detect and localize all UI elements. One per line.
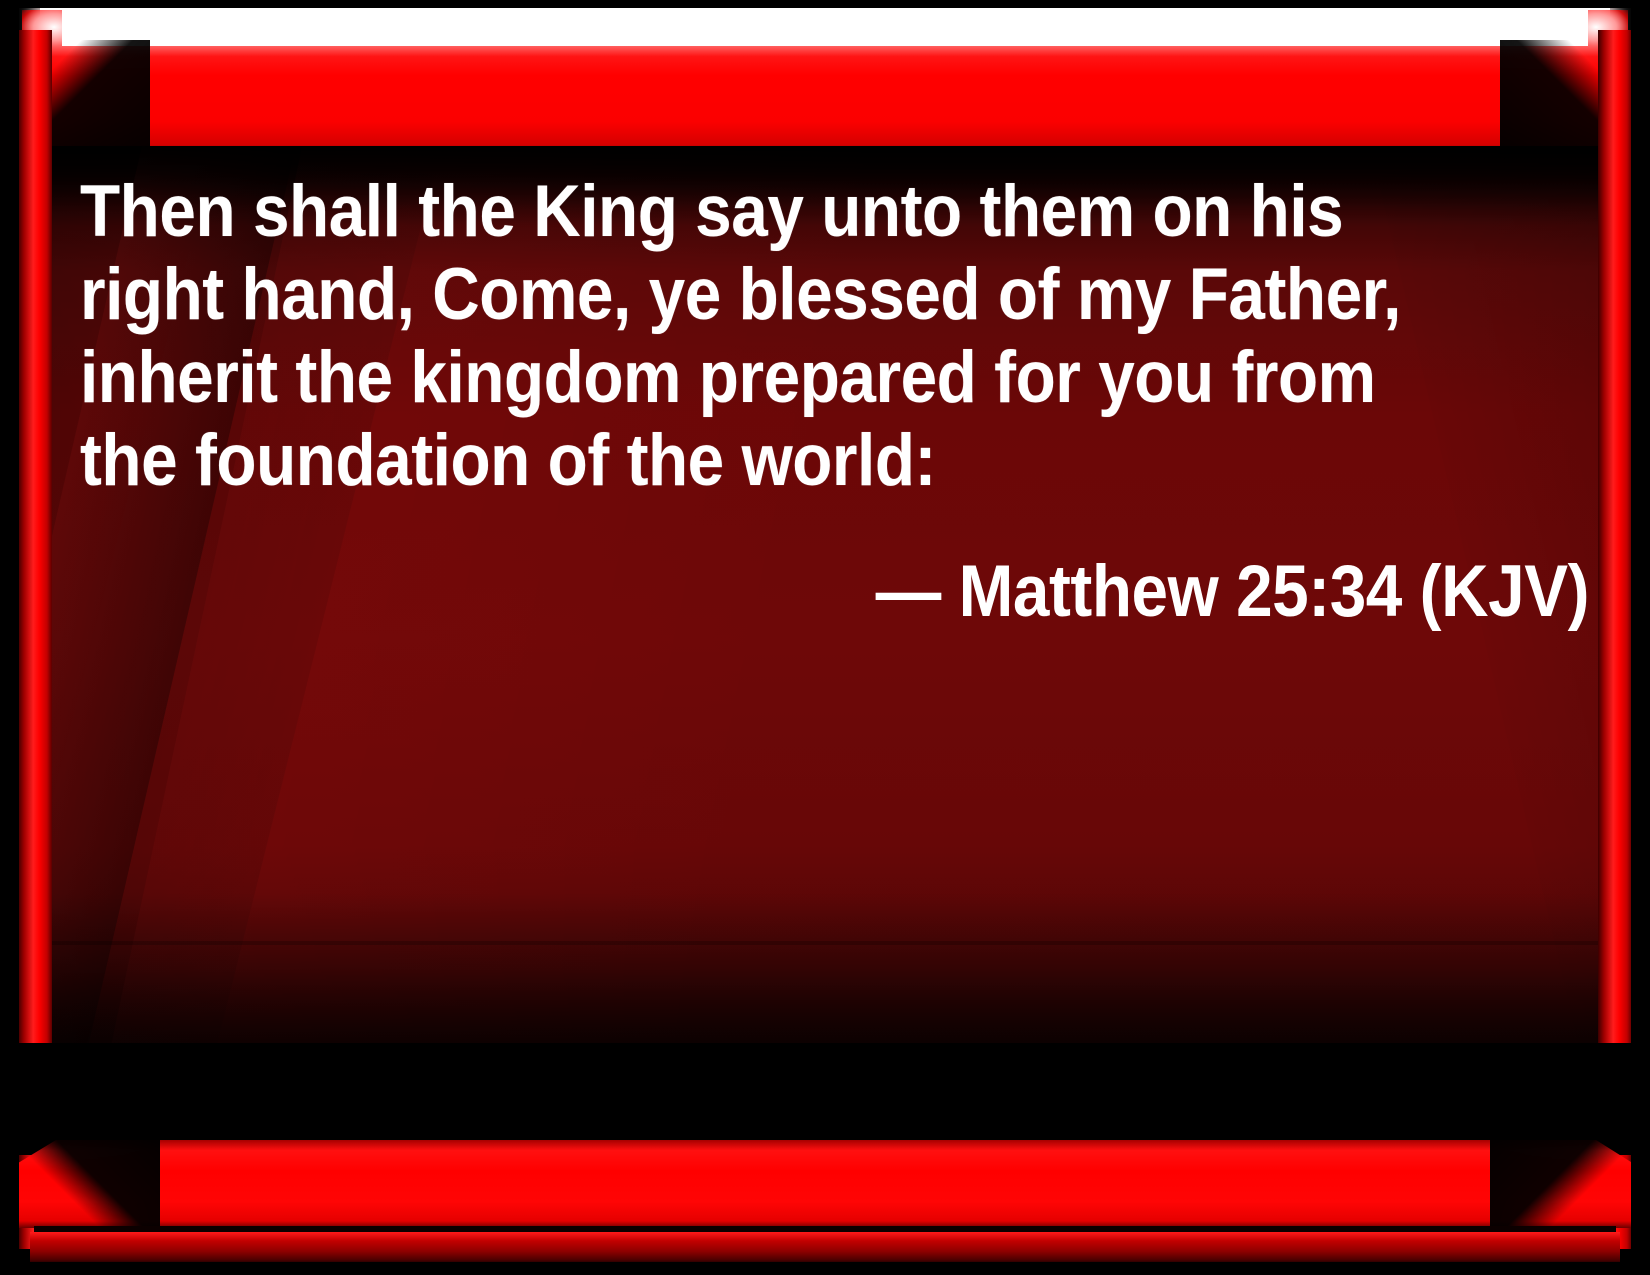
- right-edge-border: [1631, 0, 1650, 1275]
- top-highlight-bar: [40, 8, 1610, 48]
- bottom-dark-red-strip: [30, 1232, 1620, 1264]
- verse-line-4: the foundation of the world:: [80, 419, 1446, 502]
- verse-line-1: Then shall the King say unto them on his: [80, 170, 1446, 253]
- verse-attribution: — Matthew 25:34 (KJV): [232, 550, 1598, 633]
- bottom-edge-border: [0, 1262, 1650, 1275]
- left-edge-border: [0, 0, 19, 1275]
- top-red-band: [0, 46, 1650, 151]
- bottom-right-corner-miter: [1490, 1120, 1650, 1240]
- bottom-left-corner-miter: [0, 1120, 160, 1240]
- bottom-red-band: [0, 1140, 1650, 1228]
- panel-bottom-shade: [52, 893, 1598, 1043]
- scripture-slide: Then shall the King say unto them on his…: [0, 0, 1650, 1275]
- bottom-black-band: [0, 1043, 1650, 1155]
- verse-line-3: inherit the kingdom prepared for you fro…: [80, 336, 1446, 419]
- verse-line-2: right hand, Come, ye blessed of my Fathe…: [80, 253, 1446, 336]
- top-edge-border: [0, 0, 1650, 8]
- verse-text-block: Then shall the King say unto them on his…: [80, 170, 1598, 633]
